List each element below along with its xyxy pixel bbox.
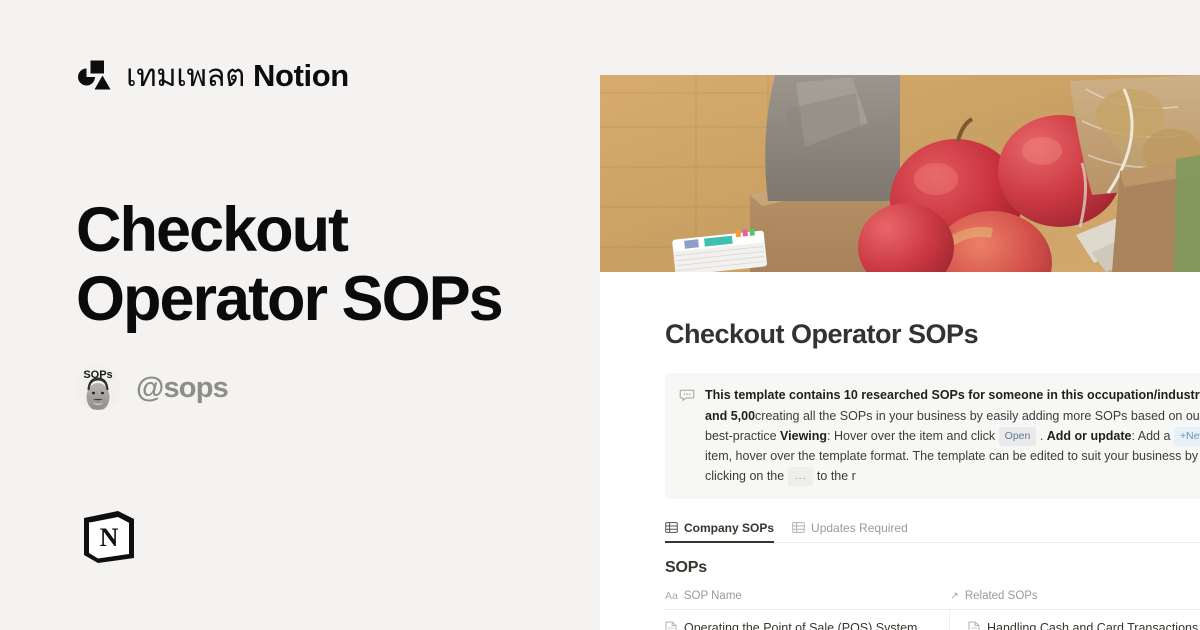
avatar: SOPs [76, 366, 120, 410]
column-header-sop-name[interactable]: Aa SOP Name [665, 586, 950, 609]
database-title: SOPs [665, 559, 1200, 577]
text-type-icon: Aa [665, 590, 678, 602]
notion-document: Checkout Operator SOPs This template con… [600, 272, 1200, 630]
brand-text: เทมเพลต Notion [126, 60, 349, 91]
og-card: เทมเพลต Notion Checkout Operator SOPs [0, 0, 1200, 630]
database-tabs: Company SOPs Updates Required [665, 521, 1200, 543]
preview-panel: Checkout Operator SOPs This template con… [600, 0, 1200, 630]
table-icon [665, 521, 678, 534]
column-header-sop-name-label: SOP Name [684, 590, 742, 602]
sops-table: Aa SOP Name ↗ Related SOPs [665, 586, 1200, 630]
callout-seg-7: : Add a [1131, 429, 1173, 443]
related-sop-link-label: Handling Cash and Card Transactions [987, 619, 1198, 630]
tab-company-sops-label: Company SOPs [684, 521, 774, 535]
sop-link[interactable]: Operating the Point of Sale (POS) System [665, 619, 949, 630]
page-icon [665, 621, 677, 630]
author-handle: @sops [136, 374, 228, 403]
document-title: Checkout Operator SOPs [665, 318, 1200, 350]
tab-updates-required-label: Updates Required [811, 521, 908, 535]
page-title: Checkout Operator SOPs [76, 196, 576, 335]
column-header-related-sops[interactable]: ↗ Related SOPs [950, 586, 1200, 609]
more-options-chip[interactable]: ... [788, 467, 814, 486]
cell-related-sops[interactable]: Handling Cash and Card Transactions [950, 610, 1200, 630]
table-row[interactable]: Operating the Point of Sale (POS) System [665, 610, 1200, 630]
brand-lockup: เทมเพลต Notion [76, 58, 349, 92]
byline: SOPs @sops [76, 366, 228, 410]
relation-type-icon: ↗ [950, 590, 959, 602]
cover-image [600, 75, 1200, 272]
page-title-line-2: Operator SOPs [76, 265, 576, 334]
tab-company-sops[interactable]: Company SOPs [665, 521, 774, 542]
related-sop-link[interactable]: Handling Cash and Card Transactions [968, 619, 1200, 630]
callout-seg-5: . [1036, 429, 1046, 443]
table-icon [792, 521, 805, 534]
brand-bold-label: Notion [253, 58, 349, 93]
shapes-template-icon [76, 58, 112, 92]
brand-thai-label: เทมเพลต [126, 58, 245, 93]
page-icon [968, 621, 980, 630]
cover-top-gap [600, 0, 1200, 75]
callout-seg-add-update: Add or update [1047, 429, 1132, 443]
svg-text:SOPs: SOPs [83, 369, 112, 381]
sop-link-label: Operating the Point of Sale (POS) System [684, 619, 917, 630]
callout-seg-viewing: Viewing [780, 429, 827, 443]
speech-bubble-icon [679, 387, 695, 486]
cell-sop-name[interactable]: Operating the Point of Sale (POS) System [665, 610, 950, 630]
open-chip[interactable]: Open [999, 427, 1037, 446]
page-title-line-1: Checkout [76, 196, 576, 265]
callout-text: This template contains 10 researched SOP… [705, 385, 1200, 486]
callout-seg-10: to the r [813, 469, 855, 483]
notion-cube-logo: N [78, 505, 138, 567]
callout-block: This template contains 10 researched SOP… [665, 373, 1200, 498]
new-chip[interactable]: +New [1174, 427, 1200, 446]
callout-seg-8: item, hover over the [705, 449, 819, 463]
svg-text:N: N [100, 523, 119, 552]
left-panel: เทมเพลต Notion Checkout Operator SOPs [0, 0, 600, 630]
table-header-row: Aa SOP Name ↗ Related SOPs [665, 586, 1200, 610]
column-header-related-sops-label: Related SOPs [965, 590, 1038, 602]
callout-seg-4: : Hover over the item and click [827, 429, 999, 443]
tab-updates-required[interactable]: Updates Required [792, 521, 908, 542]
